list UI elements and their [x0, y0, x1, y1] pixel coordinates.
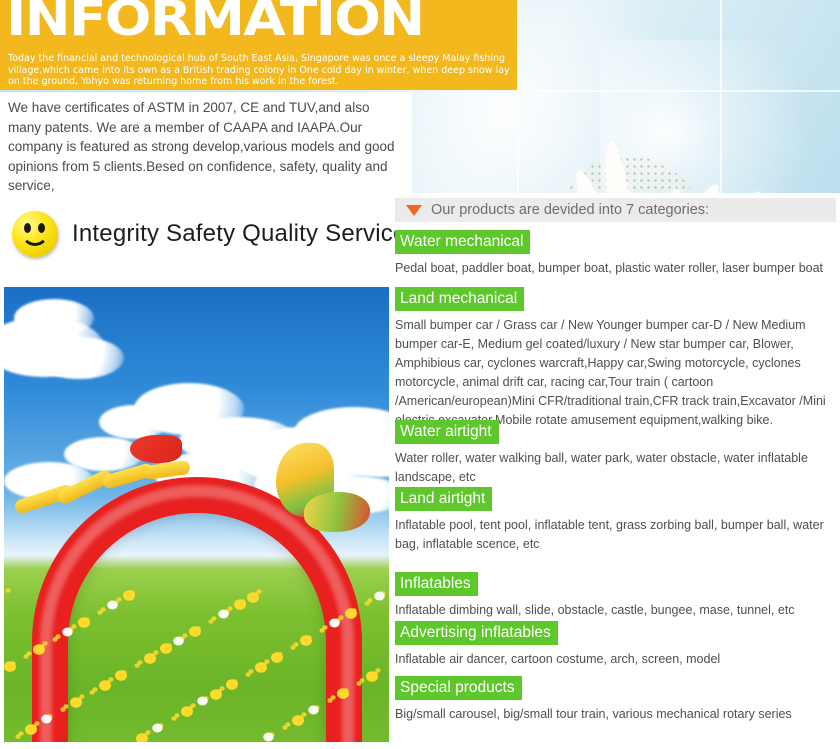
meadow-flower [136, 733, 148, 742]
products-panel: Our products are devided into 7 categori… [395, 198, 840, 749]
header-banner: INFORMATION Today the financial and tech… [0, 0, 840, 193]
meadow-flower [364, 601, 369, 606]
meadow-flower [160, 643, 172, 654]
meadow-flower [52, 637, 57, 642]
meadow-flower [123, 590, 135, 601]
meadow-flower [78, 617, 90, 628]
category-title: Inflatables [395, 572, 478, 596]
smiley-mouth [21, 229, 49, 246]
meadow-flower [107, 601, 118, 610]
certificates-panel: We have certificates of ASTM in 2007, CE… [0, 92, 412, 193]
category-title: Water mechanical [395, 230, 530, 254]
meadow-flower [345, 608, 357, 619]
meadow-flower [62, 628, 73, 637]
category-title: Land airtight [395, 487, 492, 511]
meadow-flower [115, 670, 127, 681]
category-description: Water roller, water walking ball, water … [395, 449, 836, 487]
category-description: Big/small carousel, big/small tour train… [395, 705, 836, 724]
meadow-flower [89, 690, 94, 695]
meadow-flower [247, 592, 259, 603]
meadow-flower [300, 635, 312, 646]
meadow-flower [308, 706, 319, 715]
meadow-flower [271, 652, 283, 663]
meadow-flower [134, 663, 139, 668]
brand-slogan-row: Integrity Safety Quality Service [0, 200, 392, 268]
meadow-flower [366, 671, 378, 682]
grid-line-vertical [517, 0, 519, 193]
meadow-flower [290, 645, 295, 650]
page-title: INFORMATION [6, 0, 424, 43]
category-description: Inflatable dimbing wall, slide, obstacle… [395, 601, 836, 620]
category-title: Special products [395, 676, 522, 700]
category-description: Inflatable air dancer, cartoon costume, … [395, 650, 836, 669]
meadow-flower [218, 610, 229, 619]
product-category[interactable]: InflatablesInflatable dimbing wall, slid… [395, 572, 836, 620]
meadow-flower [173, 637, 184, 646]
meadow-flower [181, 706, 193, 717]
meadow-flower [337, 688, 349, 699]
meadow-flower [99, 680, 111, 691]
product-category[interactable]: Land mechanicalSmall bumper car / Grass … [395, 287, 836, 430]
certificates-text: We have certificates of ASTM in 2007, CE… [8, 98, 404, 193]
page-root: INFORMATION Today the financial and tech… [0, 0, 840, 749]
category-title: Water airtight [395, 420, 499, 444]
meadow-flower [15, 734, 20, 739]
category-description: Pedal boat, paddler boat, bumper boat, p… [395, 259, 836, 278]
meadow-flower [210, 689, 222, 700]
meadow-flower [25, 724, 37, 735]
category-title: Land mechanical [395, 287, 524, 311]
meadow-flower [144, 653, 156, 664]
products-header: Our products are devided into 7 categori… [395, 198, 836, 222]
meadow-flower [33, 644, 45, 655]
product-photo [4, 287, 389, 742]
meadow-flower [152, 724, 163, 733]
products-header-label: Our products are devided into 7 categori… [431, 202, 709, 218]
banner-title-block: INFORMATION Today the financial and tech… [0, 0, 517, 90]
smiley-face-icon [12, 211, 58, 257]
meadow-flower [245, 672, 250, 677]
product-category[interactable]: Land airtightInflatable pool, tent pool,… [395, 487, 836, 554]
meadow-flower [282, 725, 287, 730]
meadow-flower [234, 599, 246, 610]
phoenix-tail [304, 492, 370, 532]
meadow-flower [4, 661, 16, 672]
meadow-flower [5, 588, 10, 593]
meadow-flower [263, 733, 274, 742]
meadow-flower [189, 626, 201, 637]
category-description: Small bumper car / Grass car / New Young… [395, 316, 836, 430]
cloud [14, 299, 94, 337]
meadow-flower [292, 715, 304, 726]
meadow-flower [319, 628, 324, 633]
meadow-flower [329, 619, 340, 628]
daisy-flower-icon [470, 0, 800, 193]
meadow-flower [356, 681, 361, 686]
product-category[interactable]: Water airtightWater roller, water walkin… [395, 420, 836, 487]
meadow-flower [197, 697, 208, 706]
meadow-flower [60, 707, 65, 712]
cloud [34, 337, 124, 379]
brand-slogan-label: Integrity Safety Quality Service [72, 220, 407, 248]
meadow-flower [327, 698, 332, 703]
meadow-flower [374, 592, 385, 601]
banner-paragraph: Today the financial and technological hu… [8, 53, 513, 88]
meadow-flower [208, 619, 213, 624]
category-title: Advertising inflatables [395, 621, 558, 645]
dragon-head [130, 435, 182, 463]
grid-line-horizontal [517, 90, 840, 92]
meadow-flower [255, 662, 267, 673]
meadow-flower [70, 697, 82, 708]
meadow-flower [97, 610, 102, 615]
product-category[interactable]: Special productsBig/small carousel, big/… [395, 676, 836, 724]
category-description: Inflatable pool, tent pool, inflatable t… [395, 516, 836, 554]
triangle-down-icon [406, 205, 422, 216]
meadow-flower [226, 679, 238, 690]
meadow-flower [171, 716, 176, 721]
meadow-flower [41, 715, 52, 724]
product-category[interactable]: Water mechanicalPedal boat, paddler boat… [395, 230, 836, 278]
meadow-flower [23, 654, 28, 659]
product-category[interactable]: Advertising inflatablesInflatable air da… [395, 621, 836, 669]
grid-line-vertical [720, 0, 722, 193]
